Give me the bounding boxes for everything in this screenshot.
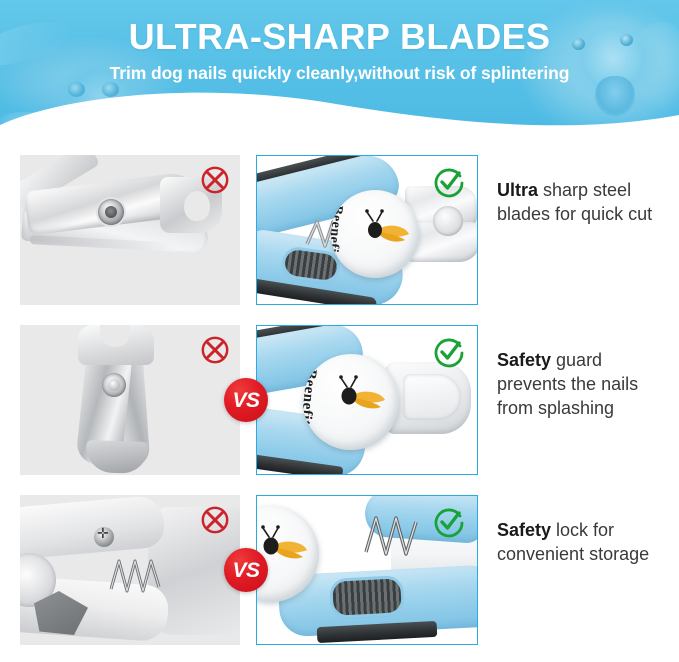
feature-keyword: Ultra [497,180,538,200]
spring-coil [108,555,164,597]
vs-badge: VS [224,548,268,592]
bad-product-panel [20,495,240,645]
header-text-group: ULTRA-SHARP BLADES Trim dog nails quickl… [0,0,679,83]
bad-product-panel [20,155,240,305]
clipper-notch [184,191,210,221]
bee-icon [303,354,399,450]
safety-lock-grip [332,578,402,616]
vs-label: VS [232,560,259,581]
clipper-screw [94,527,114,547]
comparison-row: VS [0,495,679,645]
comparison-row: VS [0,325,679,475]
good-product-panel: Beenefits [256,155,478,305]
good-product-panel: Beenefits [256,495,478,645]
feature-keyword: Safety [497,520,551,540]
circle-check-icon [433,336,465,368]
comparison-rows: Beenefits Ultra sharp steel blades for q… [0,140,679,662]
vs-label: VS [232,390,259,411]
circle-check-icon [433,166,465,198]
clipper-handle-top [20,495,166,559]
blade-opening [433,206,463,236]
bad-product-panel [20,325,240,475]
header-wave-divider [0,85,679,140]
feature-description: Safety guard prevents the nails from spl… [497,349,673,421]
bee-icon [256,506,319,602]
bee-icon [331,190,419,278]
brand-logo-disc: Beenefits [303,354,399,450]
clipper-rivet [98,199,124,225]
brand-logo-disc: Beenefits [256,506,319,602]
comparison-row: Beenefits Ultra sharp steel blades for q… [0,155,679,305]
circle-check-icon [433,506,465,538]
feature-keyword: Safety [497,350,551,370]
circle-x-icon [200,165,230,195]
circle-x-icon [200,335,230,365]
clipper-tail [85,440,148,474]
feature-description: Ultra sharp steel blades for quick cut [497,179,673,227]
brand-logo-disc: Beenefits [331,190,419,278]
spring-coil [361,512,421,562]
page-title: ULTRA-SHARP BLADES [0,19,679,55]
safety-guard-inner [403,374,461,420]
circle-x-icon [200,505,230,535]
good-product-panel: Beenefits [256,325,478,475]
feature-description: Safety lock for convenient storage [497,519,673,567]
clipper-rivet [102,373,126,397]
page-subtitle: Trim dog nails quickly cleanly,without r… [0,65,679,83]
header-banner: ULTRA-SHARP BLADES Trim dog nails quickl… [0,0,679,140]
vs-badge: VS [224,378,268,422]
